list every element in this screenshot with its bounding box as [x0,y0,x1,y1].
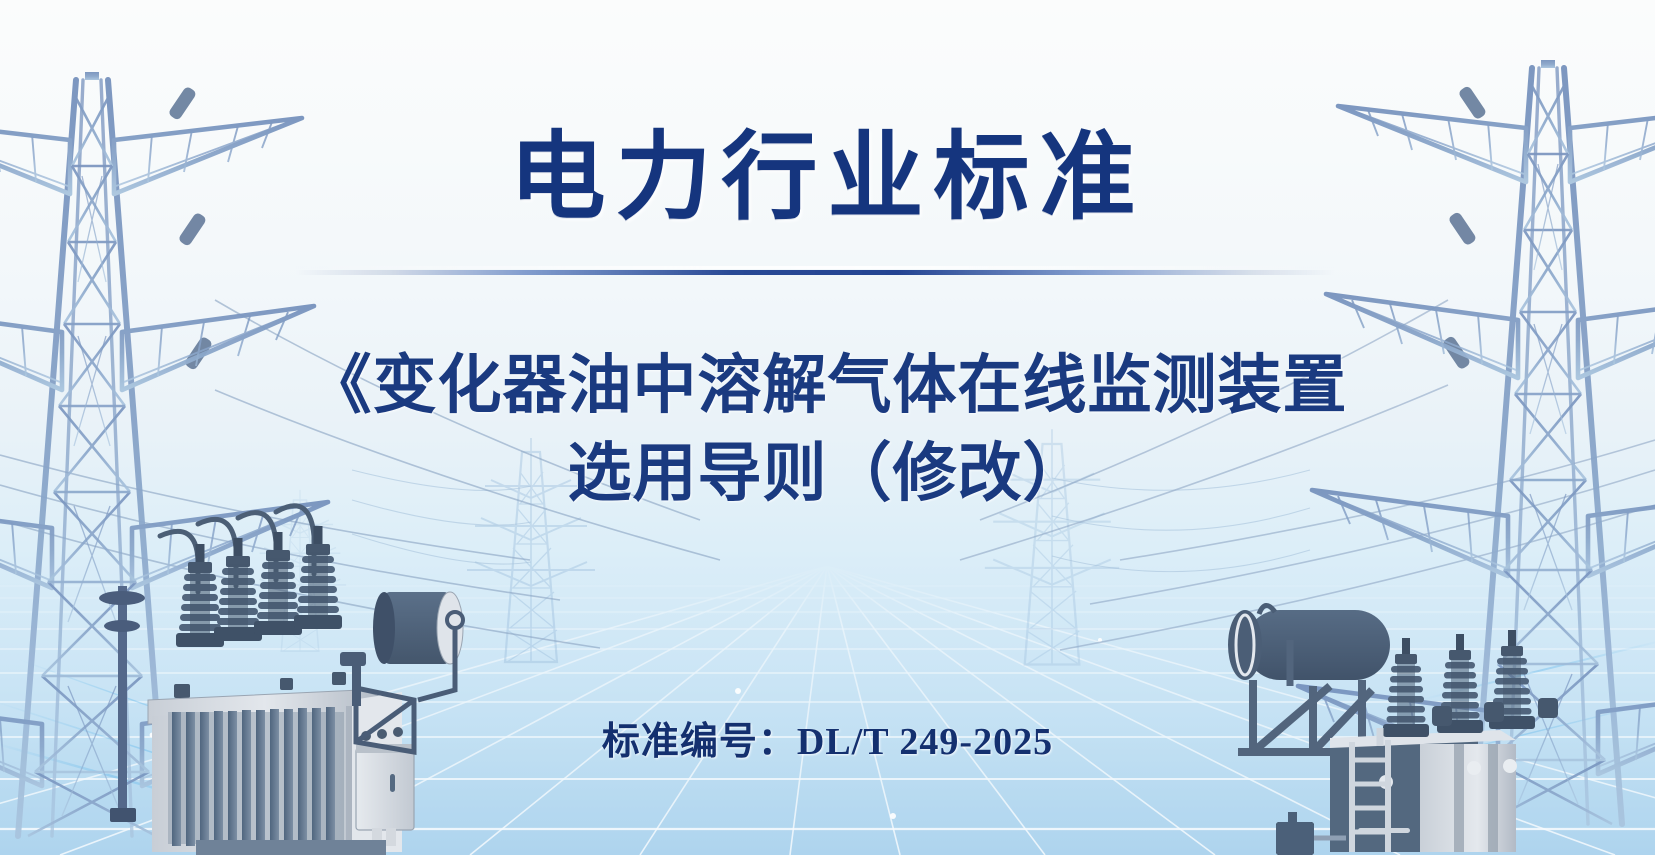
transmission-towers-layer [0,0,1655,855]
standard-number: 标准编号：DL/T 249-2025 [602,710,1053,765]
title-content: 电力行业标准 《变化器油中溶解气体在线监测装置 选用导则（修改） 标准编号：DL… [0,0,1655,855]
power-transformer-right [0,0,1655,855]
title-divider-glow [295,266,1335,269]
control-cabinet-left [356,744,416,846]
title-divider [295,270,1335,275]
subtitle-line-2: 选用导则（修改） [268,430,1388,518]
conservator-tank-left [340,592,463,752]
access-ladder-right [1352,740,1388,852]
background-towers-layer [0,0,1655,855]
surge-arrester-left [99,586,145,822]
equipment-box-right [1276,812,1346,855]
perspective-grid-floor [0,0,1655,855]
overhead-power-lines [0,0,1655,855]
page-title: 电力行业标准 [510,126,1146,230]
subtitle-line-1: 《变化器油中溶解气体在线监测装置 [268,342,1388,430]
subtitle: 《变化器油中溶解气体在线监测装置 选用导则（修改） [268,342,1388,519]
power-transformer-left [0,0,1655,855]
conservator-tank-right [1228,605,1392,752]
standard-cover-slide: 电力行业标准 《变化器油中溶解气体在线监测装置 选用导则（修改） 标准编号：DL… [0,0,1655,855]
